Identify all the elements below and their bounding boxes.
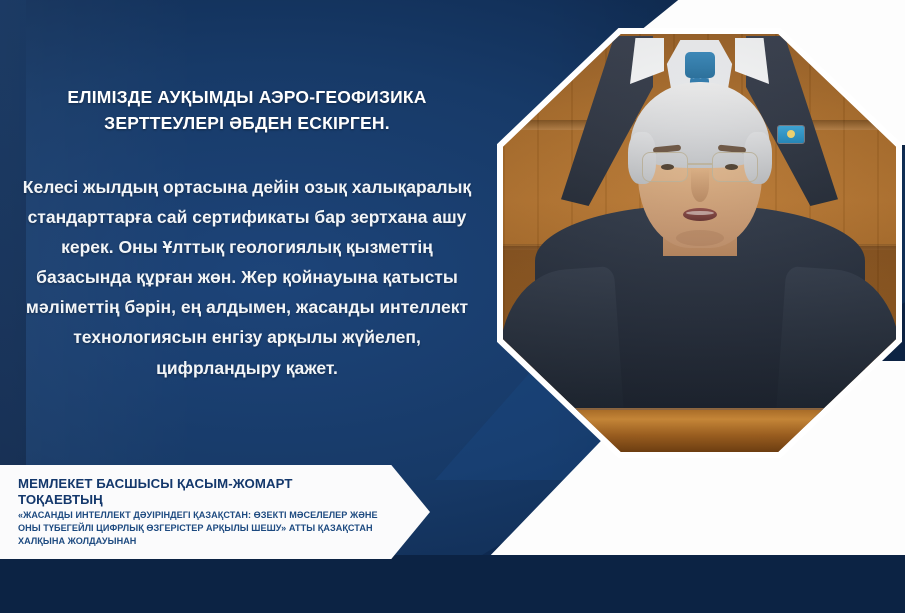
portrait-frame <box>497 28 902 458</box>
bottom-navy-bar <box>0 555 905 613</box>
portrait-illustration <box>503 34 896 452</box>
portrait-photo <box>503 34 896 452</box>
caption-title: МЕМЛЕКЕТ БАСШЫСЫ ҚАСЫМ-ЖОМАРТ ТОҚАЕВТЫҢ <box>18 476 378 507</box>
photo-vignette <box>503 34 896 452</box>
quote-body: Келесі жылдың ортасына дейін озық халықа… <box>18 172 476 383</box>
caption-banner: МЕМЛЕКЕТ БАСШЫСЫ ҚАСЫМ-ЖОМАРТ ТОҚАЕВТЫҢ … <box>0 465 430 559</box>
quote-card: ЕЛІМІЗДЕ АУҚЫМДЫ АЭРО-ГЕОФИЗИКА ЗЕРТТЕУЛ… <box>0 0 905 613</box>
quote-headline: ЕЛІМІЗДЕ АУҚЫМДЫ АЭРО-ГЕОФИЗИКА ЗЕРТТЕУЛ… <box>32 84 462 137</box>
caption-subtitle: «ЖАСАНДЫ ИНТЕЛЛЕКТ ДӘУІРІНДЕГІ ҚАЗАҚСТАН… <box>18 509 378 548</box>
